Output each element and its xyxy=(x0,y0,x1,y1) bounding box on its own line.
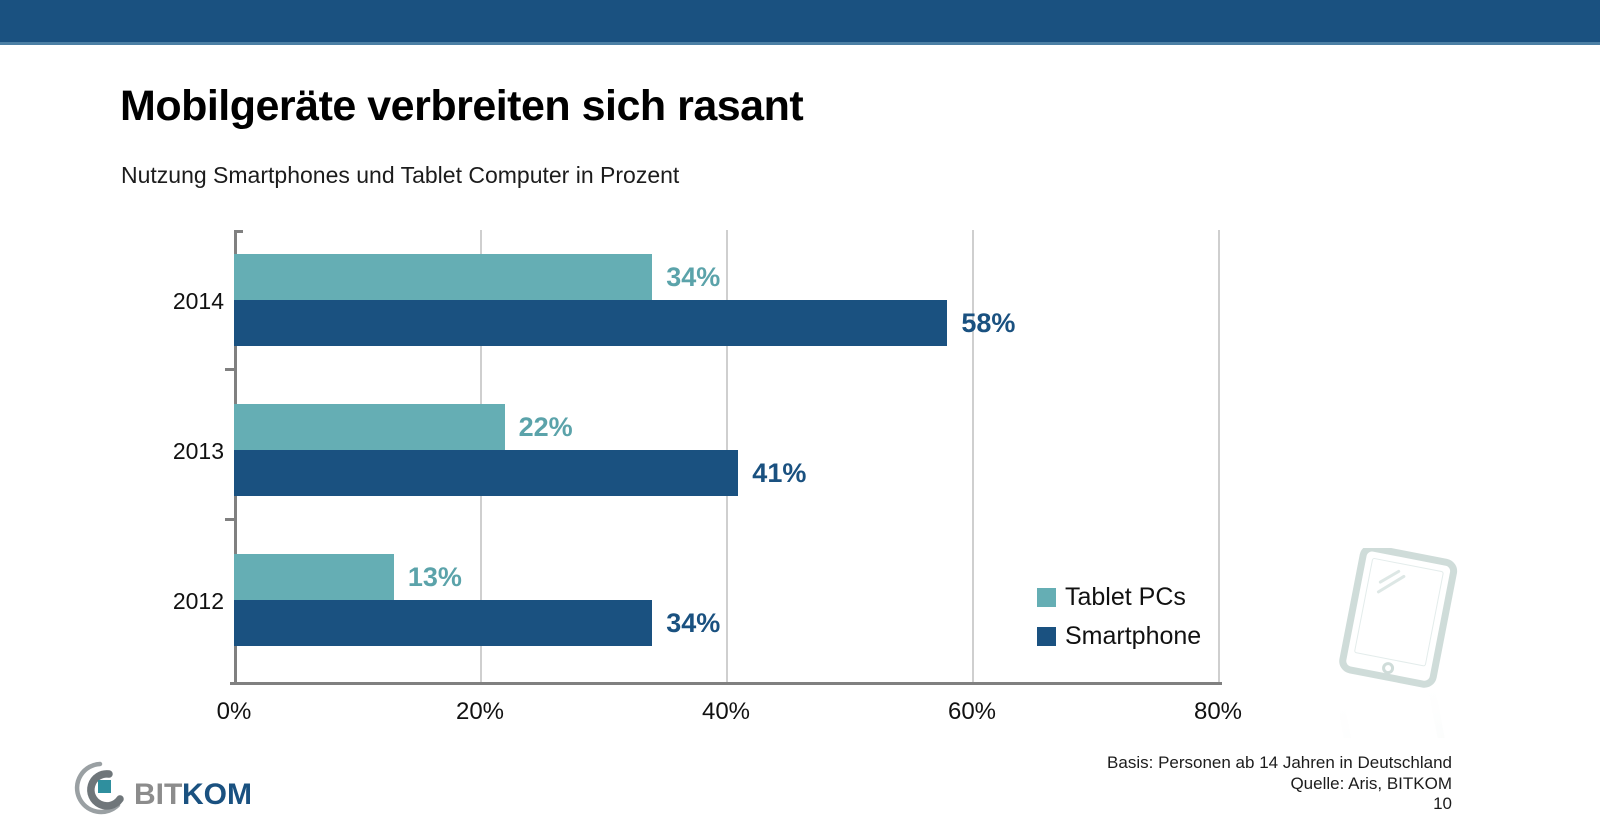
legend-label-tablet-pcs: Tablet PCs xyxy=(1065,583,1186,612)
bitkom-logo-text-kom: KOM xyxy=(182,778,252,811)
bar-tablet-pcs-2013 xyxy=(234,404,505,450)
y-axis-tick-top xyxy=(234,230,243,233)
chart-legend: Tablet PCs Smartphone xyxy=(1037,578,1201,656)
legend-swatch-icon-smartphone xyxy=(1037,627,1056,646)
bitkom-logo-text-bit: BIT xyxy=(134,778,182,811)
footer-source: Quelle: Aris, BITKOM xyxy=(1107,773,1452,794)
tablet-device-icon xyxy=(1318,548,1498,738)
bar-tablet-pcs-2014 xyxy=(234,254,652,300)
x-axis-tick-label: 80% xyxy=(1194,698,1242,726)
category-label-2014: 2014 xyxy=(166,288,224,315)
bar-value-label: 41% xyxy=(752,450,806,496)
category-label-2013: 2013 xyxy=(166,438,224,465)
page-title: Mobilgeräte verbreiten sich rasant xyxy=(120,82,803,131)
legend-swatch-icon-tablet-pcs xyxy=(1037,588,1056,607)
page-subtitle: Nutzung Smartphones und Tablet Computer … xyxy=(121,162,679,189)
gridline xyxy=(972,230,974,682)
bar-value-label: 34% xyxy=(666,600,720,646)
bar-value-label: 34% xyxy=(666,254,720,300)
header-band-rule xyxy=(0,42,1600,45)
gridline xyxy=(1218,230,1220,682)
legend-item-tablet-pcs: Tablet PCs xyxy=(1037,578,1201,617)
x-axis-tick-label: 40% xyxy=(702,698,750,726)
bitkom-logo-mark xyxy=(77,764,120,812)
bar-value-label: 22% xyxy=(519,404,573,450)
legend-item-smartphone: Smartphone xyxy=(1037,617,1201,656)
bar-tablet-pcs-2012 xyxy=(234,554,394,600)
bar-value-label: 58% xyxy=(961,300,1015,346)
bitkom-logo: BIT KOM xyxy=(62,758,262,820)
x-axis-line xyxy=(230,682,1222,685)
footer-notes: Basis: Personen ab 14 Jahren in Deutschl… xyxy=(1107,752,1452,794)
x-axis-tick-label: 60% xyxy=(948,698,996,726)
bar-smartphone-2013 xyxy=(234,450,738,496)
y-axis-tick xyxy=(225,518,234,521)
bar-smartphone-2014 xyxy=(234,300,947,346)
category-label-2012: 2012 xyxy=(166,588,224,615)
bar-smartphone-2012 xyxy=(234,600,652,646)
x-axis-tick-label: 0% xyxy=(217,698,252,726)
legend-label-smartphone: Smartphone xyxy=(1065,622,1201,651)
page-number: 10 xyxy=(1433,794,1452,814)
header-band xyxy=(0,0,1600,42)
footer-basis: Basis: Personen ab 14 Jahren in Deutschl… xyxy=(1107,752,1452,773)
bar-value-label: 13% xyxy=(408,554,462,600)
y-axis-tick xyxy=(225,368,234,371)
x-axis-tick-label: 20% xyxy=(456,698,504,726)
